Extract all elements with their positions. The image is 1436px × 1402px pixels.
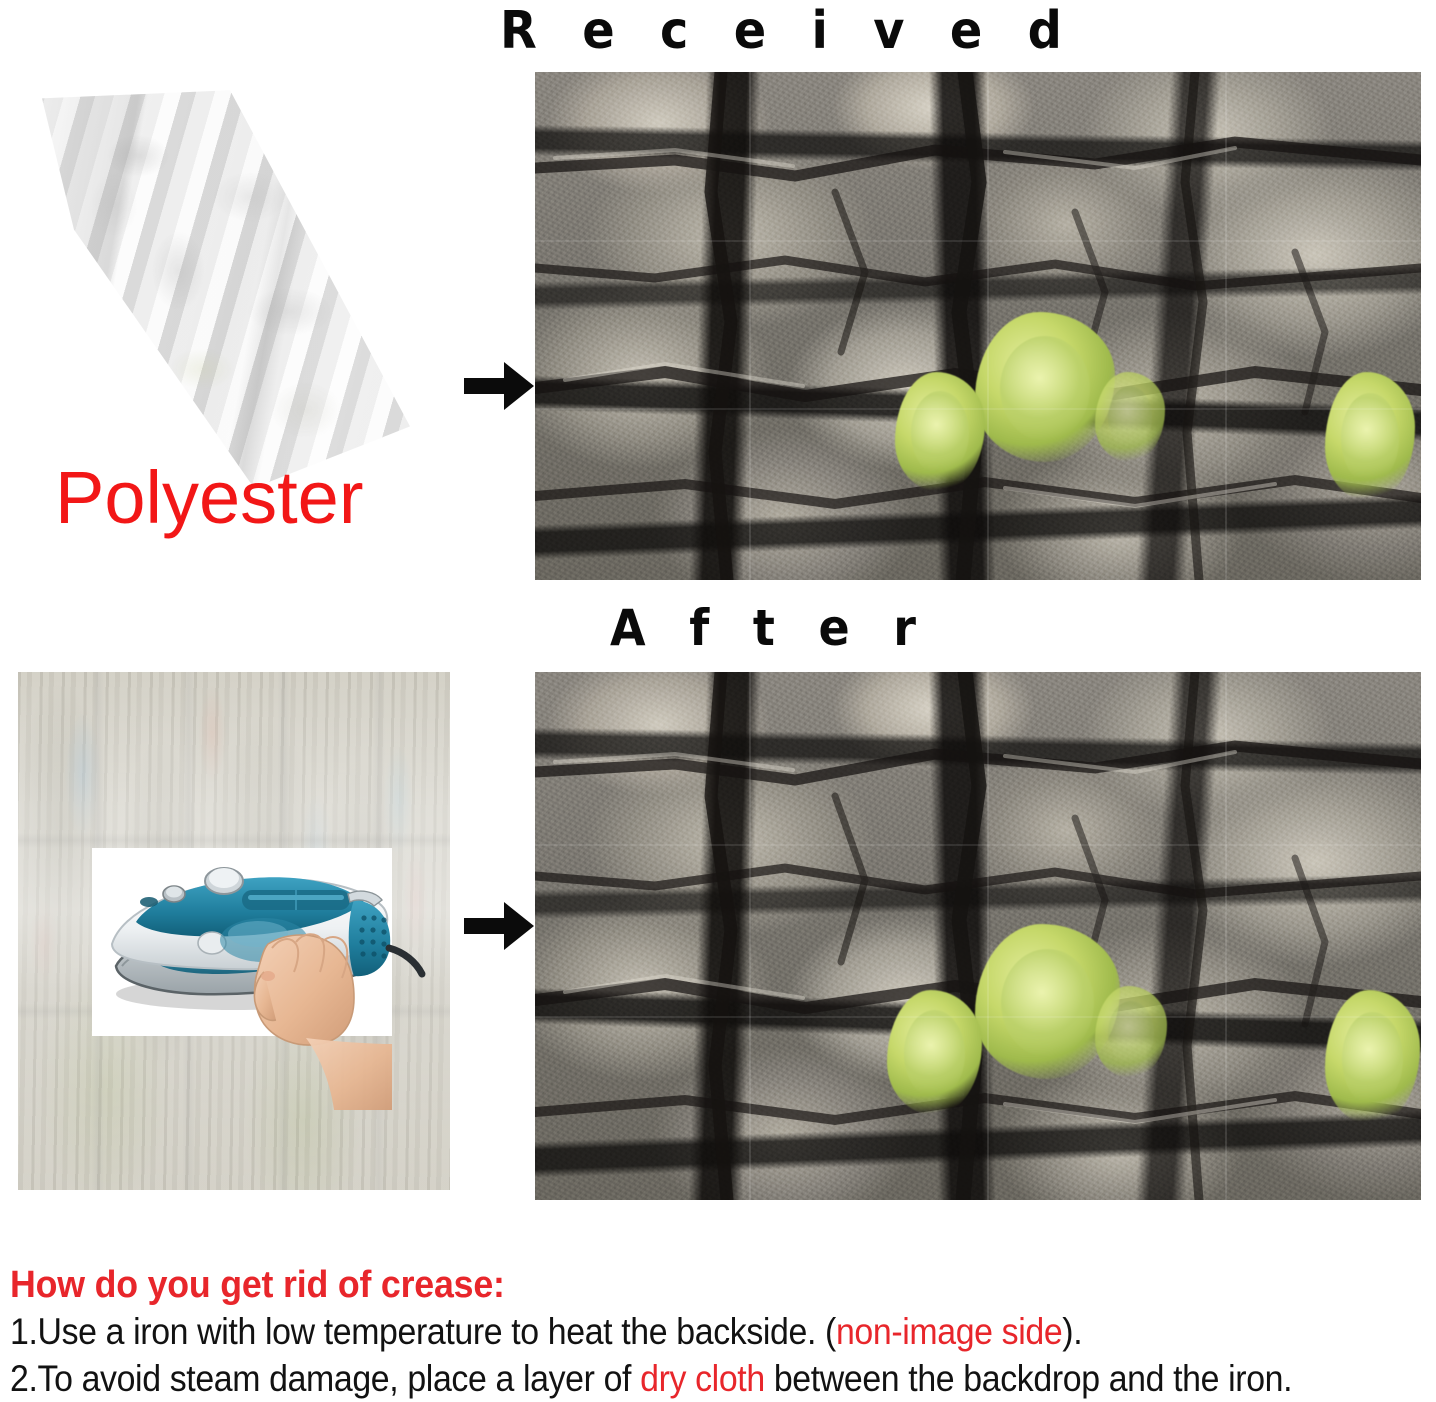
- polyester-material-label: Polyester: [55, 458, 363, 538]
- photo-seam: [1225, 672, 1227, 1200]
- steam-iron-icon: [92, 848, 392, 1036]
- instruction-line-1-prefix: 1.Use a iron with low temperature to hea…: [10, 1311, 836, 1352]
- page-title-after: A f t e r: [610, 600, 930, 656]
- instruction-line-2-suffix: between the backdrop and the iron.: [765, 1358, 1292, 1399]
- instruction-line-1: 1.Use a iron with low temperature to hea…: [10, 1308, 1309, 1355]
- after-backdrop-photo: [535, 672, 1421, 1200]
- photo-seam: [1225, 72, 1227, 580]
- photo-seam: [535, 1016, 1421, 1018]
- folded-polyester-fabric-image: [18, 82, 418, 492]
- rock-vegetation: [535, 72, 1421, 580]
- photo-seam: [535, 844, 1421, 846]
- instruction-line-1-suffix: ).: [1062, 1311, 1082, 1352]
- instruction-line-2-prefix: 2.To avoid steam damage, place a layer o…: [10, 1358, 640, 1399]
- steam-iron-photo: [92, 848, 392, 1036]
- right-arrow-icon: [462, 358, 536, 414]
- rock-vegetation: [535, 672, 1421, 1200]
- care-instructions: How do you get rid of crease: 1.Use a ir…: [10, 1262, 1430, 1402]
- hand-icon: [254, 934, 354, 1045]
- instructions-heading: How do you get rid of crease:: [10, 1262, 1345, 1308]
- page-title-received: R e c e i v e d: [500, 2, 1076, 60]
- right-arrow-icon: [462, 898, 536, 954]
- instruction-line-2-highlight: dry cloth: [640, 1358, 765, 1399]
- instruction-line-2: 2.To avoid steam damage, place a layer o…: [10, 1355, 1309, 1402]
- photo-seam: [987, 672, 989, 1200]
- photo-seam: [535, 240, 1421, 242]
- photo-seam: [749, 672, 751, 1200]
- photo-seam: [749, 72, 751, 580]
- instruction-line-1-highlight: non-image side: [836, 1311, 1062, 1352]
- photo-seam: [535, 408, 1421, 410]
- received-backdrop-photo: [535, 72, 1421, 580]
- photo-seam: [987, 72, 989, 580]
- fabric-crease-shading: [18, 82, 418, 492]
